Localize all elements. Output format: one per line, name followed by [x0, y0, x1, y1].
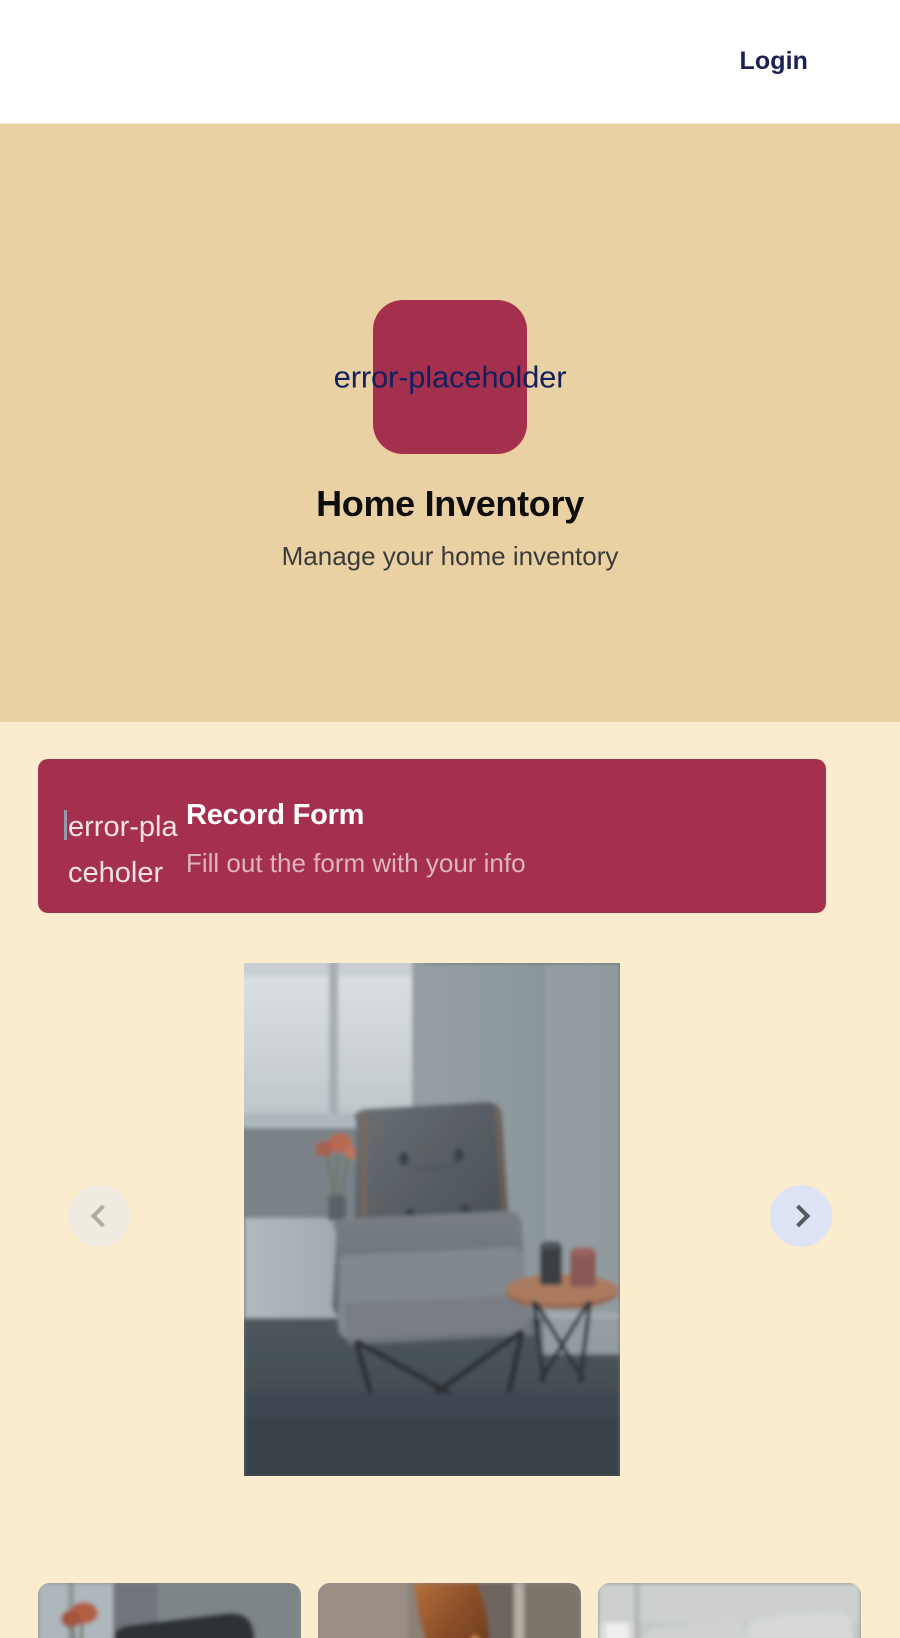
page-title: Home Inventory	[316, 482, 584, 525]
banner-broken-image-icon: error-placeholer	[68, 804, 186, 897]
record-form-banner[interactable]: error-placeholer Record Form Fill out th…	[38, 759, 826, 913]
login-link[interactable]: Login	[739, 49, 808, 74]
page-subtitle: Manage your home inventory	[282, 541, 619, 572]
banner-text-group: Record Form Fill out the form with your …	[186, 797, 526, 879]
carousel-thumbnail[interactable]	[318, 1583, 581, 1638]
carousel-prev-button[interactable]	[68, 1185, 130, 1247]
banner-title: Record Form	[186, 797, 526, 833]
carousel-main-image[interactable]	[244, 963, 620, 1476]
top-navigation-bar: Login	[0, 0, 900, 124]
image-carousel	[0, 963, 900, 1479]
carousel-next-button[interactable]	[770, 1185, 832, 1247]
app-root: Login error-placeholder Home Inventory M…	[0, 0, 900, 1638]
carousel-thumbnail-strip	[38, 1583, 862, 1638]
logo-error-text: error-placeholder	[334, 362, 567, 393]
chevron-left-icon	[90, 1205, 113, 1228]
hero-section: error-placeholder Home Inventory Manage …	[0, 124, 900, 722]
carousel-thumbnail[interactable]	[38, 1583, 301, 1638]
carousel-thumbnail[interactable]	[598, 1583, 861, 1638]
chevron-right-icon	[787, 1205, 810, 1228]
app-logo-placeholder: error-placeholder	[373, 300, 527, 454]
banner-subtitle: Fill out the form with your info	[186, 848, 526, 879]
